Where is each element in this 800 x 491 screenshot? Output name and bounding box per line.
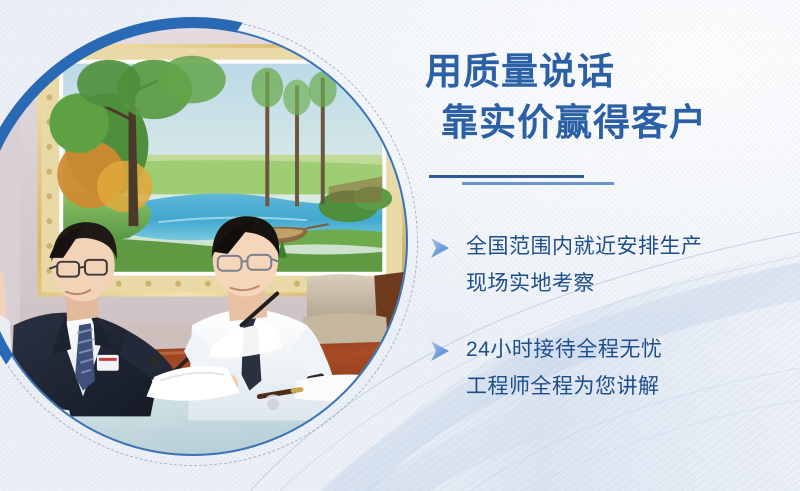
feature-list: 全国范围内就近安排生产 现场实地考察 24小时接待全程无忧 工程师全程为您讲解 [420,228,800,434]
headline-block: 用质量说话 靠实价赢得客户 [425,46,800,148]
banner-content: 用质量说话 靠实价赢得客户 全国范围内就 [420,0,800,491]
feature-item-2: 24小时接待全程无忧 工程师全程为您讲解 [420,331,800,406]
divider-bar-top [429,175,584,178]
hero-photo [0,26,408,456]
headline-divider [429,175,629,189]
divider-bar-bottom [462,182,614,185]
arrow-right-icon [427,236,453,260]
feature-item-1: 全国范围内就近安排生产 现场实地考察 [420,228,800,303]
feature-item-2-line-1: 24小时接待全程无忧 [466,331,800,368]
arrow-right-icon [427,339,453,363]
feature-item-2-line-2: 工程师全程为您讲解 [466,368,800,405]
promo-banner: 用质量说话 靠实价赢得客户 全国范围内就 [0,0,800,491]
headline-line-1: 用质量说话 [425,46,800,97]
feature-item-1-line-1: 全国范围内就近安排生产 [466,228,800,265]
headline-line-2: 靠实价赢得客户 [441,97,800,148]
feature-item-1-line-2: 现场实地考察 [466,265,800,302]
